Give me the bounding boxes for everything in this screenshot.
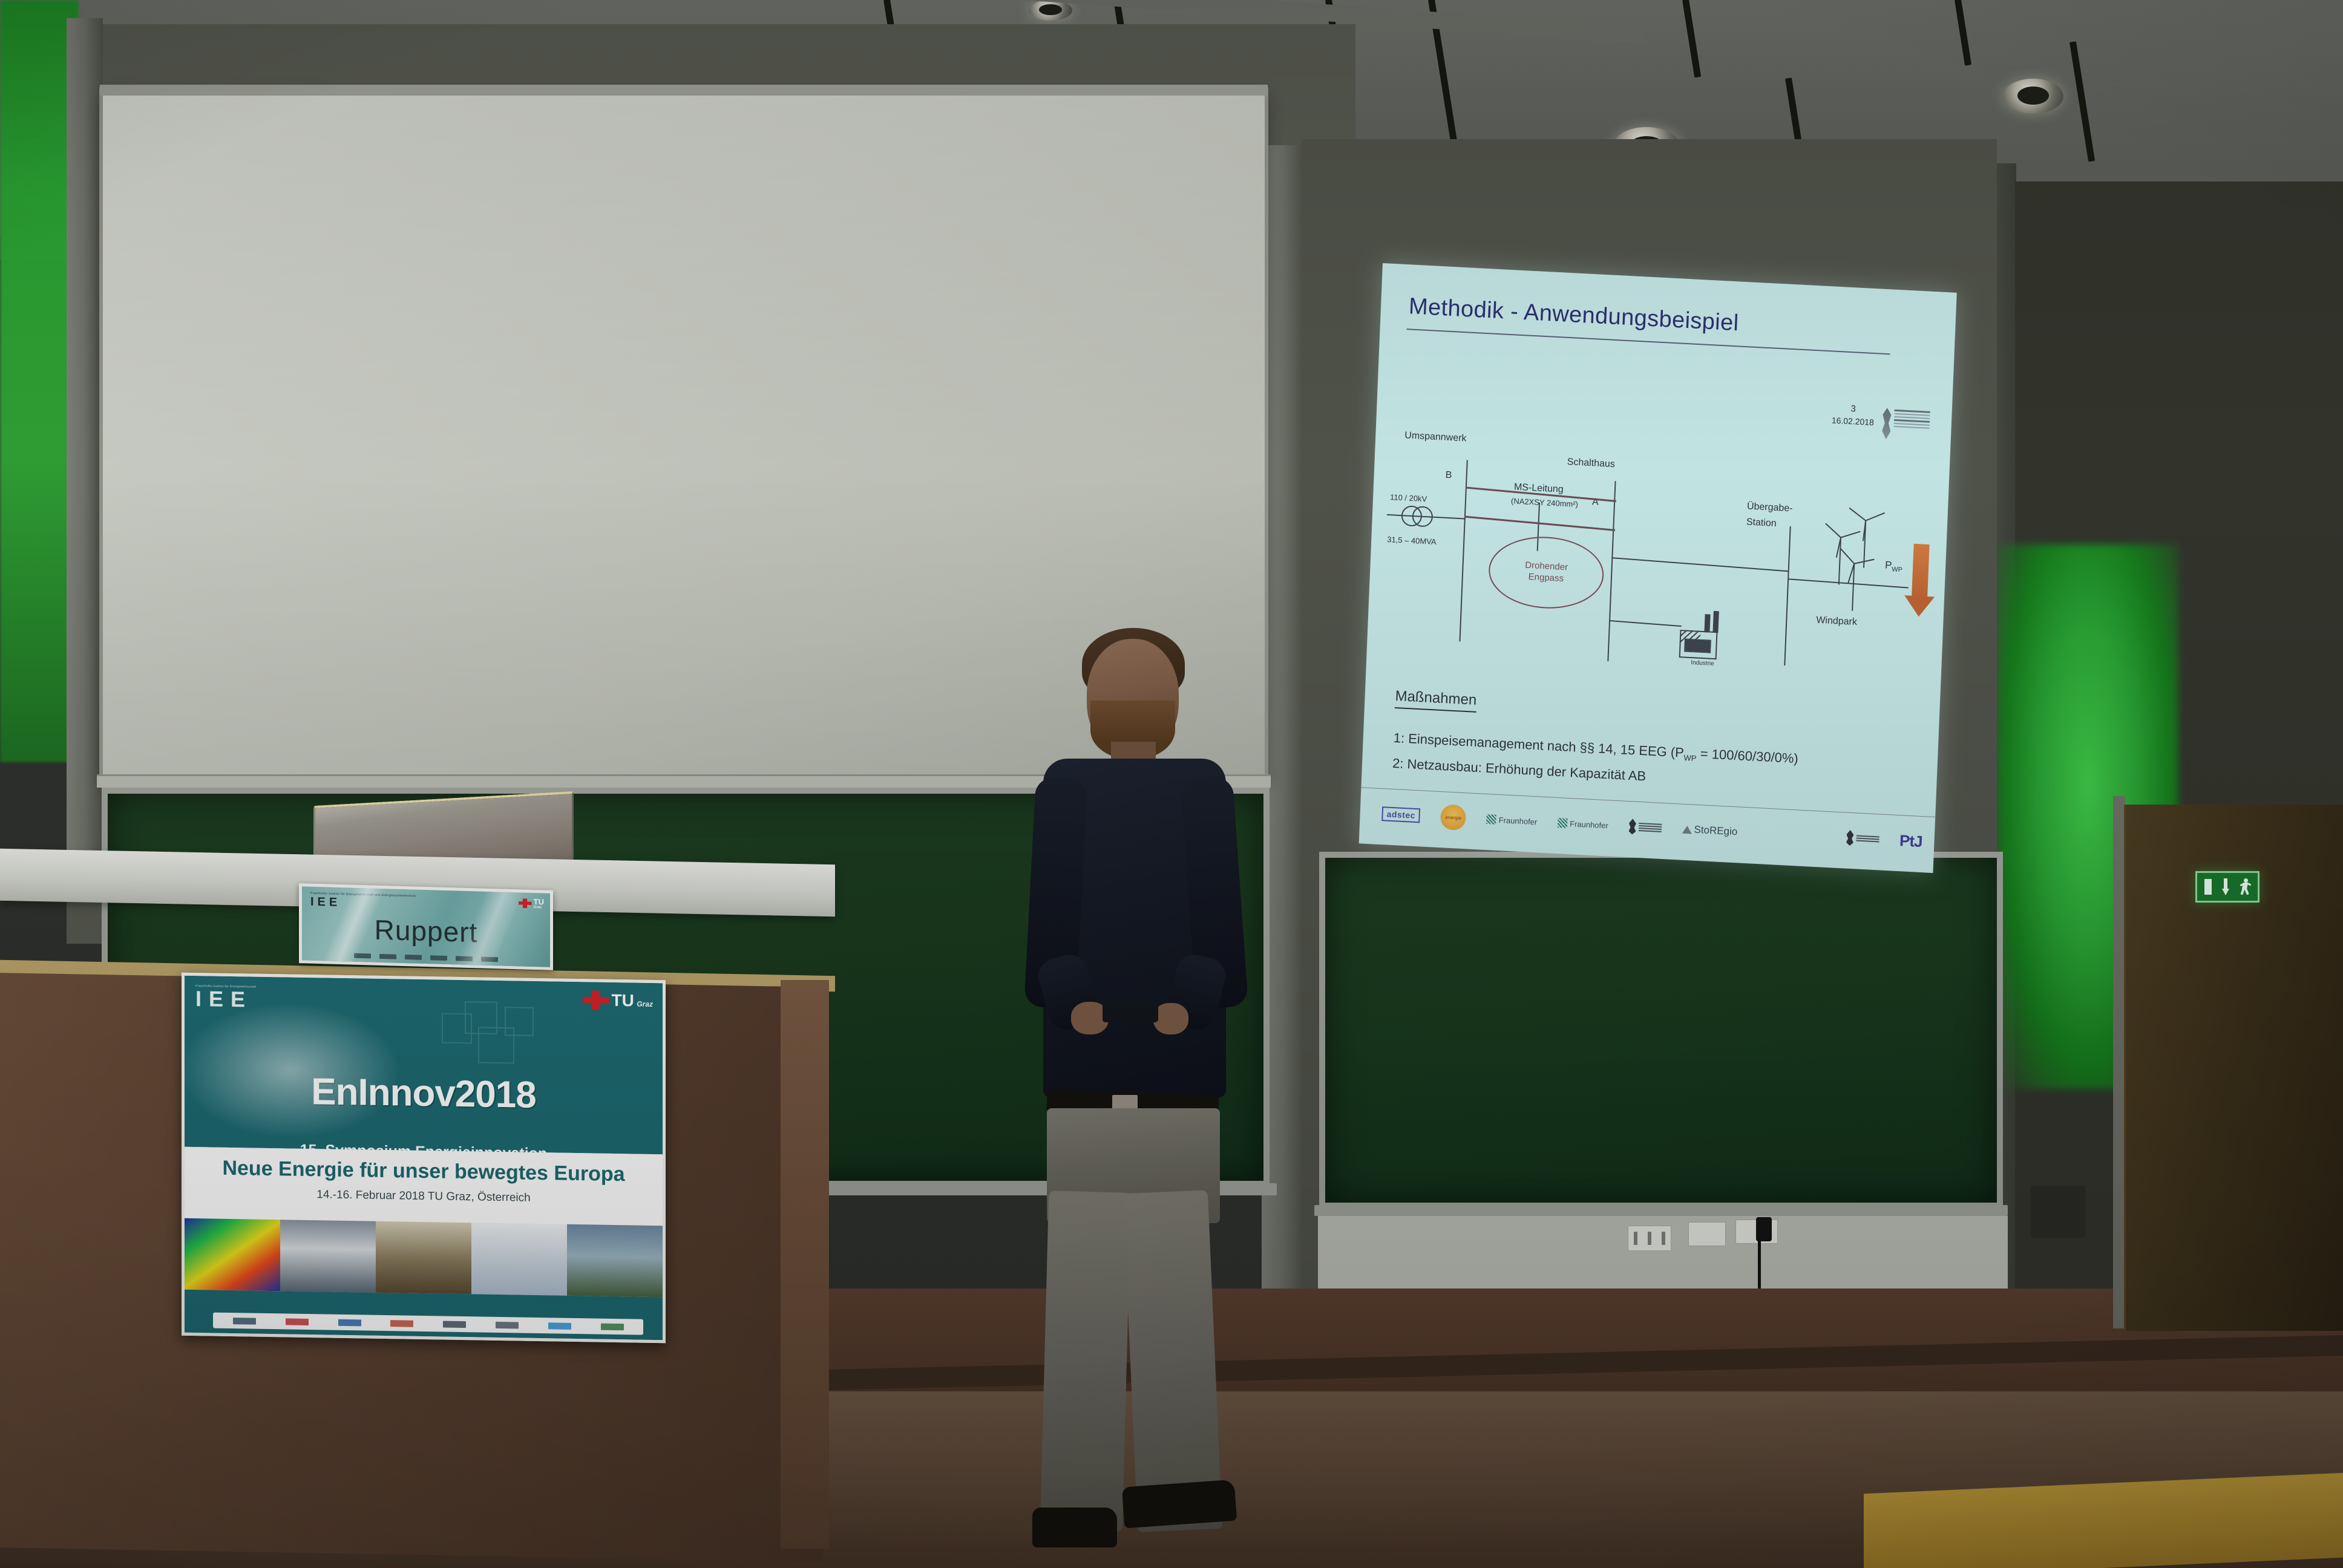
slide-title-rule xyxy=(1407,328,1890,354)
slide-title: Methodik - Anwendungsbeispiel xyxy=(1408,293,1739,336)
ptj-logo: PtJ xyxy=(1899,831,1922,851)
ms-line-lower xyxy=(1464,515,1615,531)
down-arrow-icon xyxy=(2222,878,2229,895)
exit-door-bar-icon xyxy=(2204,879,2212,895)
wall-socket-data[interactable] xyxy=(1688,1222,1726,1246)
tu-graz-wordmark: TU Graz xyxy=(612,992,653,1010)
ceiling-downlight xyxy=(1029,0,1072,21)
adstec-logo: adstec xyxy=(1381,806,1420,823)
lecture-hall-scene: Methodik - Anwendungsbeispiel 3 16.02.20… xyxy=(0,0,2343,1568)
speaker-leg-left xyxy=(1040,1191,1132,1531)
turbine-blade xyxy=(1854,559,1875,564)
federal-eagle-icon xyxy=(1846,830,1854,846)
storegio-logo: StoREgio xyxy=(1682,823,1738,838)
presentation-clicker[interactable] xyxy=(1103,1002,1158,1022)
turbine-blade xyxy=(1840,548,1855,564)
diagram-label-cable-type: (NA2XSY 240mm²) xyxy=(1511,496,1578,509)
callout-line-2: Engpass xyxy=(1528,572,1564,584)
measures-heading: Maßnahmen xyxy=(1395,688,1477,713)
poster-watermark xyxy=(442,1001,539,1076)
diagram-label-umspannwerk: Umspannwerk xyxy=(1404,430,1467,444)
exit-sign xyxy=(2195,871,2259,903)
wind-turbine xyxy=(1833,548,1872,622)
federal-eagle-icon xyxy=(1628,818,1636,835)
poster-photo-clock-tower xyxy=(376,1221,471,1294)
poster-tu-graz-logo: TU Graz xyxy=(583,990,653,1011)
wall-socket-triple[interactable] xyxy=(1628,1226,1671,1251)
slide-page-number: 3 xyxy=(1832,403,1875,416)
placard-institute: IEE xyxy=(310,895,341,909)
slide-date: 16.02.2018 xyxy=(1832,416,1875,428)
loudspeaker-box xyxy=(2031,1186,2085,1238)
bmwi-logo xyxy=(1628,818,1662,836)
chalkboard-right xyxy=(1319,852,2003,1209)
poster-iee-logo: Fraunhofer-Institut für Energiewirtschaf… xyxy=(195,984,256,1010)
pwp-label: PWP xyxy=(1885,559,1903,573)
busbar-station xyxy=(1784,526,1791,665)
tu-graz-cross-icon xyxy=(519,898,532,909)
placard-iee-logo: Fraunhofer-Institut für Energiewirtschaf… xyxy=(310,892,416,912)
diagram-label-rating: 31,5 – 40MVA xyxy=(1387,535,1437,546)
pwp-arrow-shaft xyxy=(1912,544,1930,598)
poster-event-title: EnInnov2018 xyxy=(185,1068,663,1119)
pwp-arrow-head xyxy=(1904,595,1935,618)
poster-institute: IEE xyxy=(195,986,252,1011)
poster-photo-tram xyxy=(280,1220,376,1292)
factory-stack xyxy=(1712,611,1719,633)
placard-name: Ruppert xyxy=(302,912,550,951)
turbine-blade xyxy=(1866,512,1885,521)
fraunhofer-wordmark xyxy=(1894,408,1930,429)
energie-logo: energie xyxy=(1440,804,1467,831)
chalk-tray-right xyxy=(1314,1205,2008,1216)
projected-slide: Methodik - Anwendungsbeispiel 3 16.02.20… xyxy=(1359,263,1957,873)
storegio-triangle-icon xyxy=(1682,825,1692,834)
tu-graz-cross-icon xyxy=(583,990,609,1010)
door-frame xyxy=(2113,796,2125,1328)
ceiling-downlight xyxy=(2003,79,2063,114)
conference-poster: Fraunhofer-Institut für Energiewirtschaf… xyxy=(182,973,666,1344)
name-placard: Fraunhofer-Institut für Energiewirtschaf… xyxy=(299,883,553,970)
diagram-label-voltage: 110 / 20kV xyxy=(1390,492,1427,503)
factory-windows xyxy=(1684,638,1711,653)
fraunhofer-ise-footer-logo: Fraunhofer xyxy=(1558,818,1608,830)
wall-pillar-left xyxy=(67,18,103,877)
fraunhofer-iee-footer-logo: Fraunhofer xyxy=(1486,814,1537,826)
factory-stack xyxy=(1704,614,1710,632)
running-man-icon xyxy=(2240,878,2250,895)
placard-tu-graz-logo: TU Graz xyxy=(519,897,544,909)
placard-sponsor-strip xyxy=(302,952,550,963)
turbine-blade xyxy=(1849,508,1866,521)
diagram-label-industrie: Industrie xyxy=(1691,659,1714,667)
poster-photo-strip xyxy=(185,1218,663,1297)
diagram-label-schalthaus: Schalthaus xyxy=(1567,457,1615,470)
poster-photo-europe-map xyxy=(471,1223,567,1295)
measure-item-2: 2: Netzausbau: Erhöhung der Kapazität AB xyxy=(1392,756,1647,785)
bmwi-wordmark xyxy=(1638,823,1662,832)
line-a-to-station xyxy=(1611,557,1789,572)
transformer-icon xyxy=(1401,505,1438,530)
slide-surface: Methodik - Anwendungsbeispiel 3 16.02.20… xyxy=(1359,263,1957,873)
podium-side-panel xyxy=(781,980,829,1549)
busbar-a xyxy=(1607,481,1616,661)
speaker-hand-right xyxy=(1153,1003,1188,1034)
poster-photo-hydro-dam xyxy=(567,1224,663,1297)
diagram-label-b: B xyxy=(1445,470,1452,482)
line-industry-feed xyxy=(1609,620,1682,627)
slide-diagram: Umspannwerk Schalthaus B A MS-Leitung (N… xyxy=(1366,414,1951,698)
slide-meta: 3 16.02.2018 xyxy=(1832,403,1875,428)
tu-graz-wordmark: TU Graz xyxy=(534,898,544,909)
poster-photo-thermal-building xyxy=(185,1218,280,1291)
board-rail-top xyxy=(100,85,1268,96)
bundesministerium-logo xyxy=(1846,830,1879,848)
speaker-person xyxy=(980,617,1295,1549)
bottleneck-callout: Drohender Engpass xyxy=(1487,534,1605,612)
fraunhofer-mark-icon xyxy=(1882,408,1892,440)
fraunhofer-mark-icon xyxy=(1558,818,1568,828)
diagram-label-uebergabe: Übergabe- xyxy=(1747,501,1793,515)
callout-line-1: Drohender xyxy=(1525,560,1568,573)
speaker-shoe-right xyxy=(1122,1480,1237,1529)
speaker-shoe-left xyxy=(1032,1508,1117,1547)
turbine-blade xyxy=(1825,523,1841,538)
fraunhofer-mark-icon xyxy=(1486,814,1496,825)
industry-icon xyxy=(1679,622,1723,660)
diagram-label-station: Station xyxy=(1746,517,1777,529)
ministry-wordmark xyxy=(1856,835,1879,842)
